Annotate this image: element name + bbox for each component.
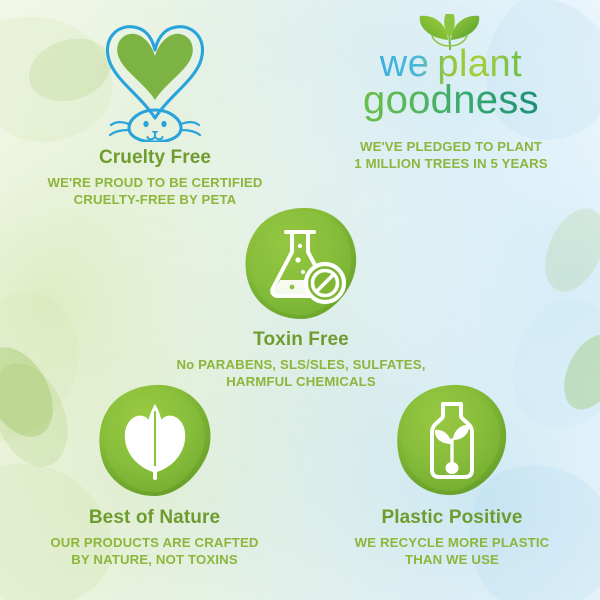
badge-title-plastic-positive: Plastic Positive [312, 508, 592, 529]
badge-subtitle-we-plant-goodness: WE'VE PLEDGED TO PLANT 1 MILLION TREES I… [310, 138, 592, 173]
logo-line-goodness: goodness [363, 78, 539, 122]
badge-toxin-free: Toxin Free No PARABENS, SLS/SLES, SULFAT… [155, 206, 447, 391]
badge-we-plant-goodness: weplant goodness WE'VE PLEDGED TO PLANT … [310, 14, 592, 173]
flask-no-toxins-icon [242, 206, 360, 322]
badge-subtitle-best-of-nature: OUR PRODUCTS ARE CRAFTED BY NATURE, NOT … [12, 534, 297, 569]
badge-title-best-of-nature: Best of Nature [12, 508, 297, 529]
badge-title-cruelty-free: Cruelty Free [10, 148, 300, 169]
infographic-stage: Cruelty Free WE'RE PROUD TO BE CERTIFIED… [0, 0, 600, 600]
sprout-leaves-icon [95, 382, 215, 500]
badge-best-of-nature: Best of Nature OUR PRODUCTS ARE CRAFTED … [12, 382, 297, 569]
badge-subtitle-cruelty-free: WE'RE PROUD TO BE CERTIFIED CRUELTY-FREE… [10, 174, 300, 209]
badge-title-toxin-free: Toxin Free [155, 330, 447, 351]
badge-cruelty-free: Cruelty Free WE'RE PROUD TO BE CERTIFIED… [10, 14, 300, 209]
badge-plastic-positive: Plastic Positive WE RECYCLE MORE PLASTIC… [312, 382, 592, 569]
we-plant-goodness-logo: weplant goodness [336, 14, 566, 124]
badge-subtitle-plastic-positive: WE RECYCLE MORE PLASTIC THAN WE USE [312, 534, 592, 569]
bottle-sprout-icon [392, 382, 512, 500]
peta-bunny-heart-icon [93, 14, 217, 142]
